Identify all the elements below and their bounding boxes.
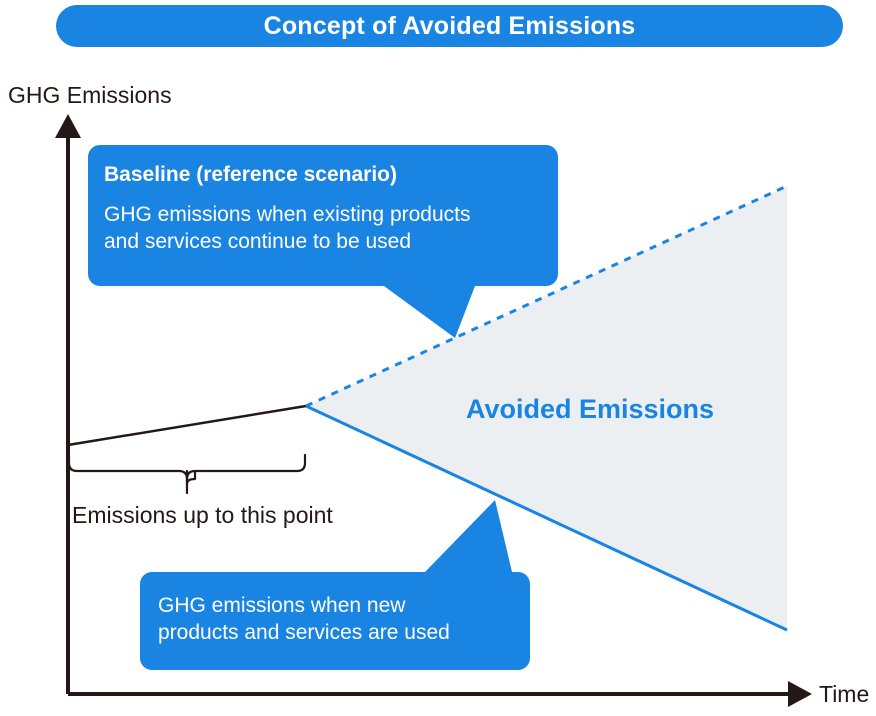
emissions-to-date-label: Emissions up to this point xyxy=(72,504,333,527)
y-axis-arrowhead xyxy=(55,114,81,138)
x-axis-arrowhead xyxy=(788,681,812,707)
callout-baseline-heading: Baseline (reference scenario) xyxy=(104,163,542,187)
callout-new-products-body-line1: GHG emissions when new xyxy=(158,592,512,619)
callout-new-products: GHG emissions when new products and serv… xyxy=(140,572,530,670)
baseline-callout-tail xyxy=(384,286,475,338)
callout-new-products-body-line2: products and services are used xyxy=(158,619,512,646)
diagram-canvas: Concept of Avoided Emissions GHG Emissio… xyxy=(0,0,876,716)
historical-emissions-line xyxy=(68,406,306,445)
callout-baseline-body-line2: and services continue to be used xyxy=(104,228,542,255)
callout-baseline: Baseline (reference scenario) GHG emissi… xyxy=(88,145,558,286)
avoided-emissions-label: Avoided Emissions xyxy=(466,396,714,423)
callout-baseline-body-line1: GHG emissions when existing products xyxy=(104,201,542,228)
new-products-callout-tail xyxy=(425,500,512,572)
